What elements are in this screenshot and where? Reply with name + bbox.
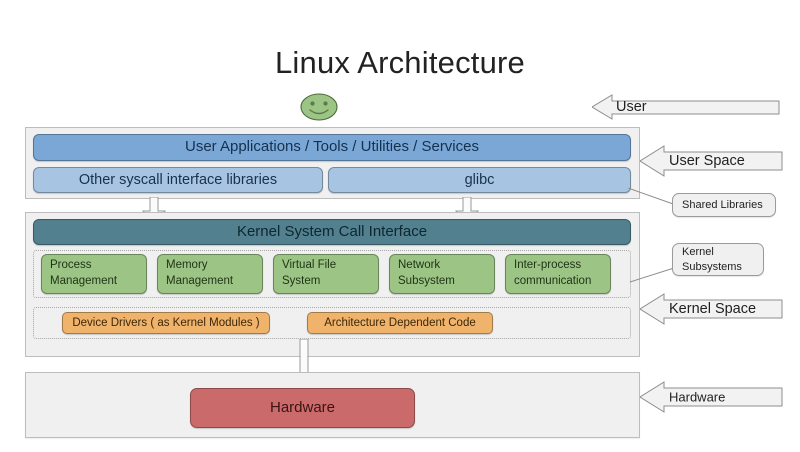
hardware-box[interactable]: Hardware: [190, 388, 415, 428]
glibc-box[interactable]: glibc: [328, 167, 631, 193]
subsystem-process-management[interactable]: Process Management: [41, 254, 147, 294]
smiley-face-icon: [299, 92, 339, 122]
subsystem-virtual-file-system[interactable]: Virtual File System: [273, 254, 379, 294]
leader-line-kernel-subsystems: [630, 268, 676, 284]
callout-label-hardware: Hardware: [669, 390, 725, 405]
device-drivers-box[interactable]: Device Drivers ( as Kernel Modules ): [62, 312, 270, 334]
callout-label-kernel-space: Kernel Space: [669, 301, 756, 317]
callout-arrow-kernel-space: Kernel Space: [640, 292, 783, 326]
subsystem-label: Process Management: [50, 258, 117, 289]
callout-arrow-hardware: Hardware: [640, 380, 783, 414]
subsystem-memory-management[interactable]: Memory Management: [157, 254, 263, 294]
subsystem-label: Network Subsystem: [398, 258, 455, 289]
subsystem-label: Inter-process communication: [514, 258, 591, 289]
subsystem-network-subsystem[interactable]: Network Subsystem: [389, 254, 495, 294]
user-applications-box[interactable]: User Applications / Tools / Utilities / …: [33, 134, 631, 161]
callout-label-user: User: [616, 99, 647, 115]
note-kernel-subsystems-text: Kernel Subsystems: [682, 245, 742, 275]
subsystem-label: Memory Management: [166, 258, 233, 289]
subsystem-inter-process-communication[interactable]: Inter-process communication: [505, 254, 611, 294]
note-shared-libraries: Shared Libraries: [672, 193, 776, 217]
subsystem-label: Virtual File System: [282, 258, 336, 289]
architecture-dependent-code-box[interactable]: Architecture Dependent Code: [307, 312, 493, 334]
callout-arrow-user-space: User Space: [640, 144, 783, 178]
other-syscall-libraries-box[interactable]: Other syscall interface libraries: [33, 167, 323, 193]
page-title: Linux Architecture: [0, 45, 800, 81]
diagram-canvas: Linux Architecture User Applications / T…: [0, 0, 800, 452]
callout-label-user-space: User Space: [669, 153, 745, 169]
callout-arrow-user: User: [592, 93, 780, 121]
kernel-system-call-interface-box[interactable]: Kernel System Call Interface: [33, 219, 631, 245]
leader-line-shared-libraries: [628, 188, 678, 210]
note-kernel-subsystems: Kernel Subsystems: [672, 243, 764, 276]
